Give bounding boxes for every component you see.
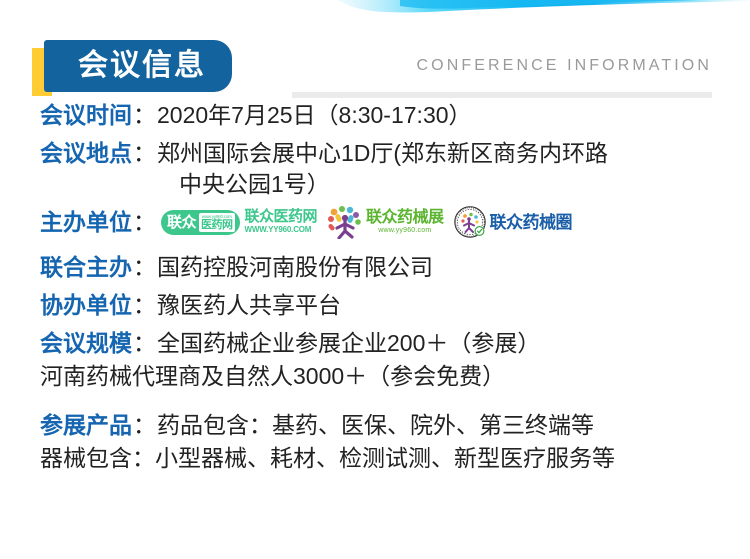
lianzhong-yaoxiequan-title: 联众药械圈 (490, 214, 573, 231)
colon-cohost: ： (132, 252, 157, 283)
english-title-text: CONFERENCE INFORMATION (417, 57, 712, 75)
pill-person-icon (327, 205, 363, 239)
conference-info-poster: 会议信息 CONFERENCE INFORMATION 会议时间 ： 2020年… (0, 0, 750, 559)
top-decorative-ribbon (0, 0, 750, 16)
info-row-scale: 会议规模 ： 全国药械企业参展企业200＋（参展） (0, 328, 750, 359)
label-place: 会议地点 (40, 138, 132, 169)
label-organizer: 协办单位 (40, 290, 132, 321)
circular-badge-icon (454, 206, 486, 238)
colon-products: ： (132, 410, 157, 441)
colon-scale: ： (132, 328, 157, 359)
info-row-place: 会议地点 ： 郑州国际会展中心1D厅(郑东新区商务内环路 中央公园1号） (0, 138, 750, 200)
value-place: 郑州国际会展中心1D厅(郑东新区商务内环路 中央公园1号） (157, 138, 608, 200)
info-row-host: 主办单位 ： 联众 www.yy960.com 医药网 联众医药网 WWW.YY… (0, 202, 750, 242)
value-cohost: 国药控股河南股份有限公司 (157, 252, 433, 283)
label-scale: 会议规模 (40, 328, 132, 359)
lianzhong-pill-box: www.yy960.com 医药网 (199, 213, 235, 232)
info-row-organizer: 协办单位 ： 豫医药人共享平台 (0, 290, 750, 321)
info-row-products: 参展产品 ： 药品包含：基药、医保、院外、第三终端等 (0, 410, 750, 441)
lianzhong-yiyaowang-logo: 联众 www.yy960.com 医药网 联众医药网 WWW.YY960.COM (161, 205, 317, 239)
page-title: 会议信息 (78, 51, 206, 81)
lianzhong-yiyaowang-site: WWW.YY960.COM (245, 225, 318, 235)
ribbon-shape-icon (0, 0, 750, 16)
label-cohost: 联合主办 (40, 252, 132, 283)
pill-person-icon-svg (327, 205, 363, 239)
colon-time: ： (132, 100, 157, 131)
info-row-cohost: 联合主办 ： 国药控股河南股份有限公司 (0, 252, 750, 283)
label-time: 会议时间 (40, 100, 132, 131)
label-host: 主办单位 (40, 207, 132, 238)
info-row-time: 会议时间 ： 2020年7月25日（8:30-17:30） (0, 100, 750, 131)
value-time: 2020年7月25日（8:30-17:30） (157, 100, 472, 131)
section-title-english: CONFERENCE INFORMATION (292, 40, 712, 92)
header-underline-bar (292, 92, 712, 98)
host-logo-group: 联众 www.yy960.com 医药网 联众医药网 WWW.YY960.COM (161, 205, 572, 239)
lianzhong-yaoxiezhan-site: www.yy960.com (366, 226, 444, 236)
lianzhong-yaoxiezhan-title: 联众药械展 (366, 209, 444, 226)
info-list: 会议时间 ： 2020年7月25日（8:30-17:30） 会议地点 ： 郑州国… (0, 100, 750, 474)
lianzhong-yiyaowang-text: 联众医药网 WWW.YY960.COM (245, 209, 318, 235)
badge-body: 会议信息 (44, 40, 232, 92)
lianzhong-yaoxiezhan-text: 联众药械展 www.yy960.com (366, 209, 444, 236)
value-place-line2: 中央公园1号） (157, 169, 608, 200)
section-header: 会议信息 CONFERENCE INFORMATION (0, 40, 750, 102)
colon-place: ： (132, 138, 157, 169)
label-products: 参展产品 (40, 410, 132, 441)
value-products-line2: 器械包含：小型器械、耗材、检测试测、新型医疗服务等 (0, 443, 750, 474)
lianzhong-box-text: 医药网 (201, 219, 233, 231)
lianzhong-pill-text: 联众 (167, 215, 196, 230)
value-scale-line1: 全国药械企业参展企业200＋（参展） (157, 328, 540, 359)
value-place-line1: 郑州国际会展中心1D厅(郑东新区商务内环路 (157, 138, 608, 169)
value-scale-line2: 河南药械代理商及自然人3000＋（参会免费） (0, 361, 750, 392)
lianzhong-yaoxiezhan-logo: 联众药械展 www.yy960.com (327, 205, 444, 239)
colon-organizer: ： (132, 290, 157, 321)
value-organizer: 豫医药人共享平台 (157, 290, 341, 321)
lianzhong-pill-icon: 联众 www.yy960.com 医药网 (161, 210, 240, 235)
colon-host: ： (132, 207, 157, 238)
lianzhong-yiyaowang-title: 联众医药网 (245, 209, 318, 225)
lianzhong-yaoxiequan-logo: 联众药械圈 (454, 205, 573, 239)
circular-badge-icon-svg (454, 206, 486, 238)
value-products-line1: 药品包含：基药、医保、院外、第三终端等 (157, 410, 594, 441)
